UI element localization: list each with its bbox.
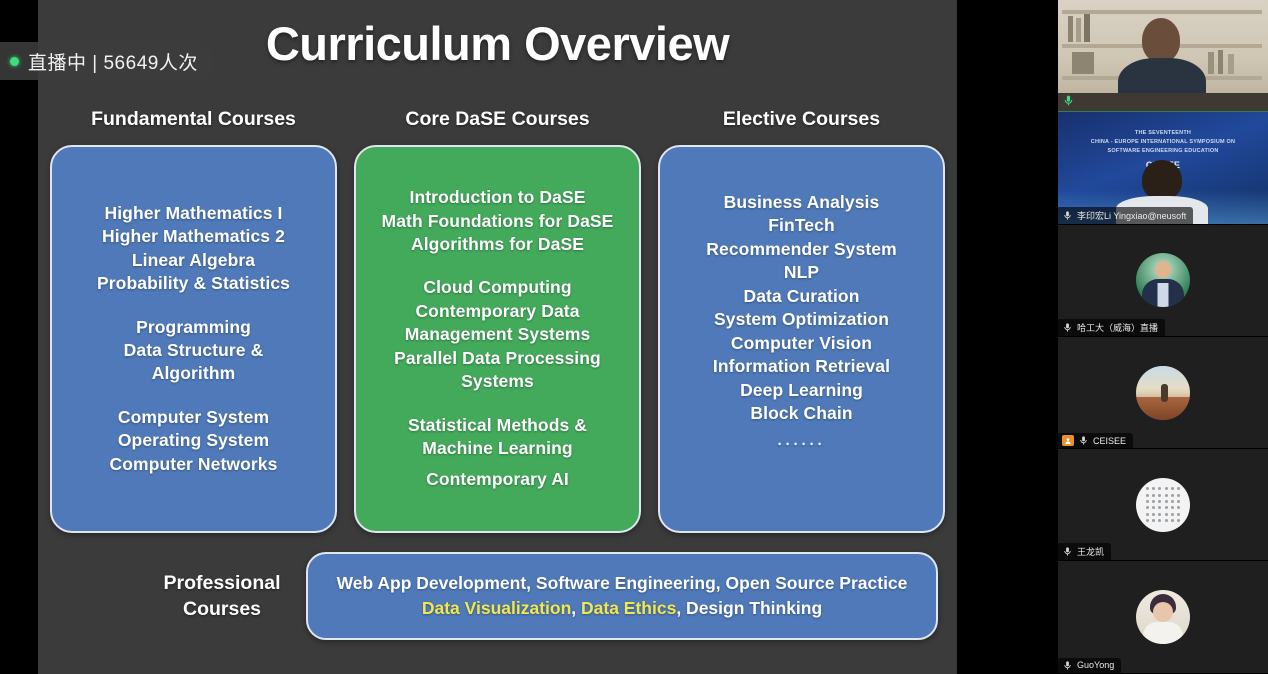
course-group: Business Analysis FinTech Recommender Sy… [670, 191, 933, 455]
microphone-on-icon[interactable] [1062, 93, 1075, 108]
fundamental-courses-card: Higher Mathematics I Higher Mathematics … [50, 145, 337, 533]
course-item: Block Chain [670, 402, 933, 425]
course-item-ellipsis: ······ [670, 435, 933, 455]
participant-name: 哈工大（威海）直播 [1077, 321, 1158, 334]
course-item: Algorithms for DaSE [366, 233, 629, 256]
avatar [1136, 478, 1190, 532]
microphone-on-icon [1062, 660, 1073, 671]
participant-name-bar: 哈工大（威海）直播 [1058, 319, 1165, 336]
course-item: Contemporary Data [366, 300, 629, 323]
avatar [1136, 590, 1190, 644]
course-item: Machine Learning [366, 437, 629, 460]
course-item: Cloud Computing [366, 276, 629, 299]
participant-name: 王龙凯 [1077, 545, 1104, 558]
video-participant-panel[interactable]: THE SEVENTEENTH CHINA - EUROPE INTERNATI… [1058, 0, 1268, 674]
course-item: Math Foundations for DaSE [366, 210, 629, 233]
live-indicator-dot [10, 57, 19, 66]
video-tile-li-yingxiao[interactable]: THE SEVENTEENTH CHINA - EUROPE INTERNATI… [1058, 112, 1268, 224]
microphone-on-icon [1062, 546, 1073, 557]
course-group: Computer System Operating System Compute… [62, 406, 325, 476]
microphone-on-icon [1062, 210, 1073, 221]
column-elective: Elective Courses Business Analysis FinTe… [658, 108, 945, 533]
course-item: Algorithm [62, 362, 325, 385]
course-item: Introduction to DaSE [366, 186, 629, 209]
course-item: Programming [62, 316, 325, 339]
course-group: Statistical Methods & Machine Learning C… [366, 414, 629, 492]
course-item: NLP [670, 261, 933, 284]
course-item: Computer Networks [62, 453, 325, 476]
course-item: Contemporary AI [366, 468, 629, 491]
professional-courses-card: Web App Development, Software Engineerin… [306, 552, 938, 640]
highlight-data-visualization: Data Visualization [422, 598, 571, 618]
microphone-on-icon [1062, 322, 1073, 333]
course-item: Higher Mathematics I [62, 202, 325, 225]
course-item: Systems [366, 370, 629, 393]
host-badge-icon [1062, 435, 1074, 446]
conf-line-3: SOFTWARE ENGINEERING EDUCATION [1058, 148, 1268, 154]
participant-name: CEISEE [1093, 436, 1126, 446]
course-group: Introduction to DaSE Math Foundations fo… [366, 186, 629, 256]
course-item: Information Retrieval [670, 355, 933, 378]
microphone-on-icon [1078, 435, 1089, 446]
column-heading: Elective Courses [723, 108, 880, 131]
professional-line-2: Data Visualization, Data Ethics, Design … [422, 596, 822, 621]
video-tile-hit-weihai[interactable]: 哈工大（威海）直播 [1058, 225, 1268, 337]
video-tile-ceisee[interactable]: CEISEE [1058, 337, 1268, 449]
participant-name: GuoYong [1077, 660, 1114, 670]
avatar [1136, 253, 1190, 307]
column-core-dase: Core DaSE Courses Introduction to DaSE M… [354, 108, 641, 533]
course-item: Data Curation [670, 285, 933, 308]
elective-courses-card: Business Analysis FinTech Recommender Sy… [658, 145, 945, 533]
video-feed [1058, 0, 1268, 111]
course-item: Statistical Methods & [366, 414, 629, 437]
course-item: Linear Algebra [62, 249, 325, 272]
live-status-badge: 直播中 | 56649人次 [0, 42, 214, 80]
participant-name-bar: CEISEE [1058, 433, 1133, 448]
course-columns: Fundamental Courses Higher Mathematics I… [50, 108, 945, 533]
video-tile-guoyong[interactable]: GuoYong [1058, 561, 1268, 673]
course-item: Management Systems [366, 323, 629, 346]
rest-design-thinking: , Design Thinking [676, 598, 822, 618]
course-item: Computer System [62, 406, 325, 429]
course-item: Computer Vision [670, 332, 933, 355]
course-group: Higher Mathematics I Higher Mathematics … [62, 202, 325, 296]
live-status-text: 直播中 | 56649人次 [28, 48, 198, 75]
course-item: Recommender System [670, 238, 933, 261]
course-item: Deep Learning [670, 379, 933, 402]
course-item: Probability & Statistics [62, 272, 325, 295]
screen-root: 直播中 | 56649人次 Curriculum Overview Fundam… [0, 0, 1268, 674]
professional-courses-label: Professional Courses [138, 570, 306, 623]
conf-line-2: CHINA - EUROPE INTERNATIONAL SYMPOSIUM O… [1058, 139, 1268, 145]
participant-name-bar: 李印宏Li Yingxiao@neusoft [1058, 207, 1193, 224]
highlight-data-ethics: Data Ethics [581, 598, 676, 618]
participant-name-bar: 王龙凯 [1058, 543, 1111, 560]
course-item: System Optimization [670, 308, 933, 331]
video-tile-active-speaker[interactable] [1058, 0, 1268, 112]
course-item: FinTech [670, 214, 933, 237]
course-group: Cloud Computing Contemporary Data Manage… [366, 276, 629, 393]
video-feed [1058, 337, 1268, 448]
course-item: Parallel Data Processing [366, 347, 629, 370]
course-item: Operating System [62, 429, 325, 452]
course-item: Data Structure & [62, 339, 325, 362]
professional-label-line2: Courses [138, 596, 306, 622]
column-heading: Core DaSE Courses [405, 108, 589, 131]
avatar [1136, 366, 1190, 420]
course-item: Higher Mathematics 2 [62, 225, 325, 248]
professional-courses-row: Professional Courses Web App Development… [138, 548, 938, 644]
participant-name-bar: GuoYong [1058, 658, 1121, 673]
professional-line-1: Web App Development, Software Engineerin… [337, 571, 908, 596]
left-gutter [0, 0, 38, 674]
course-group: Programming Data Structure & Algorithm [62, 316, 325, 386]
conf-line-1: THE SEVENTEENTH [1058, 130, 1268, 136]
video-feed [1058, 561, 1268, 672]
core-dase-courses-card: Introduction to DaSE Math Foundations fo… [354, 145, 641, 533]
video-tile-wang[interactable]: 王龙凯 [1058, 449, 1268, 561]
separator-1: , [571, 598, 581, 618]
participant-name: 李印宏Li Yingxiao@neusoft [1077, 209, 1186, 222]
presentation-slide: Curriculum Overview Fundamental Courses … [38, 0, 957, 674]
professional-label-line1: Professional [138, 570, 306, 596]
course-item: Business Analysis [670, 191, 933, 214]
column-heading: Fundamental Courses [91, 108, 296, 131]
column-fundamental: Fundamental Courses Higher Mathematics I… [50, 108, 337, 533]
